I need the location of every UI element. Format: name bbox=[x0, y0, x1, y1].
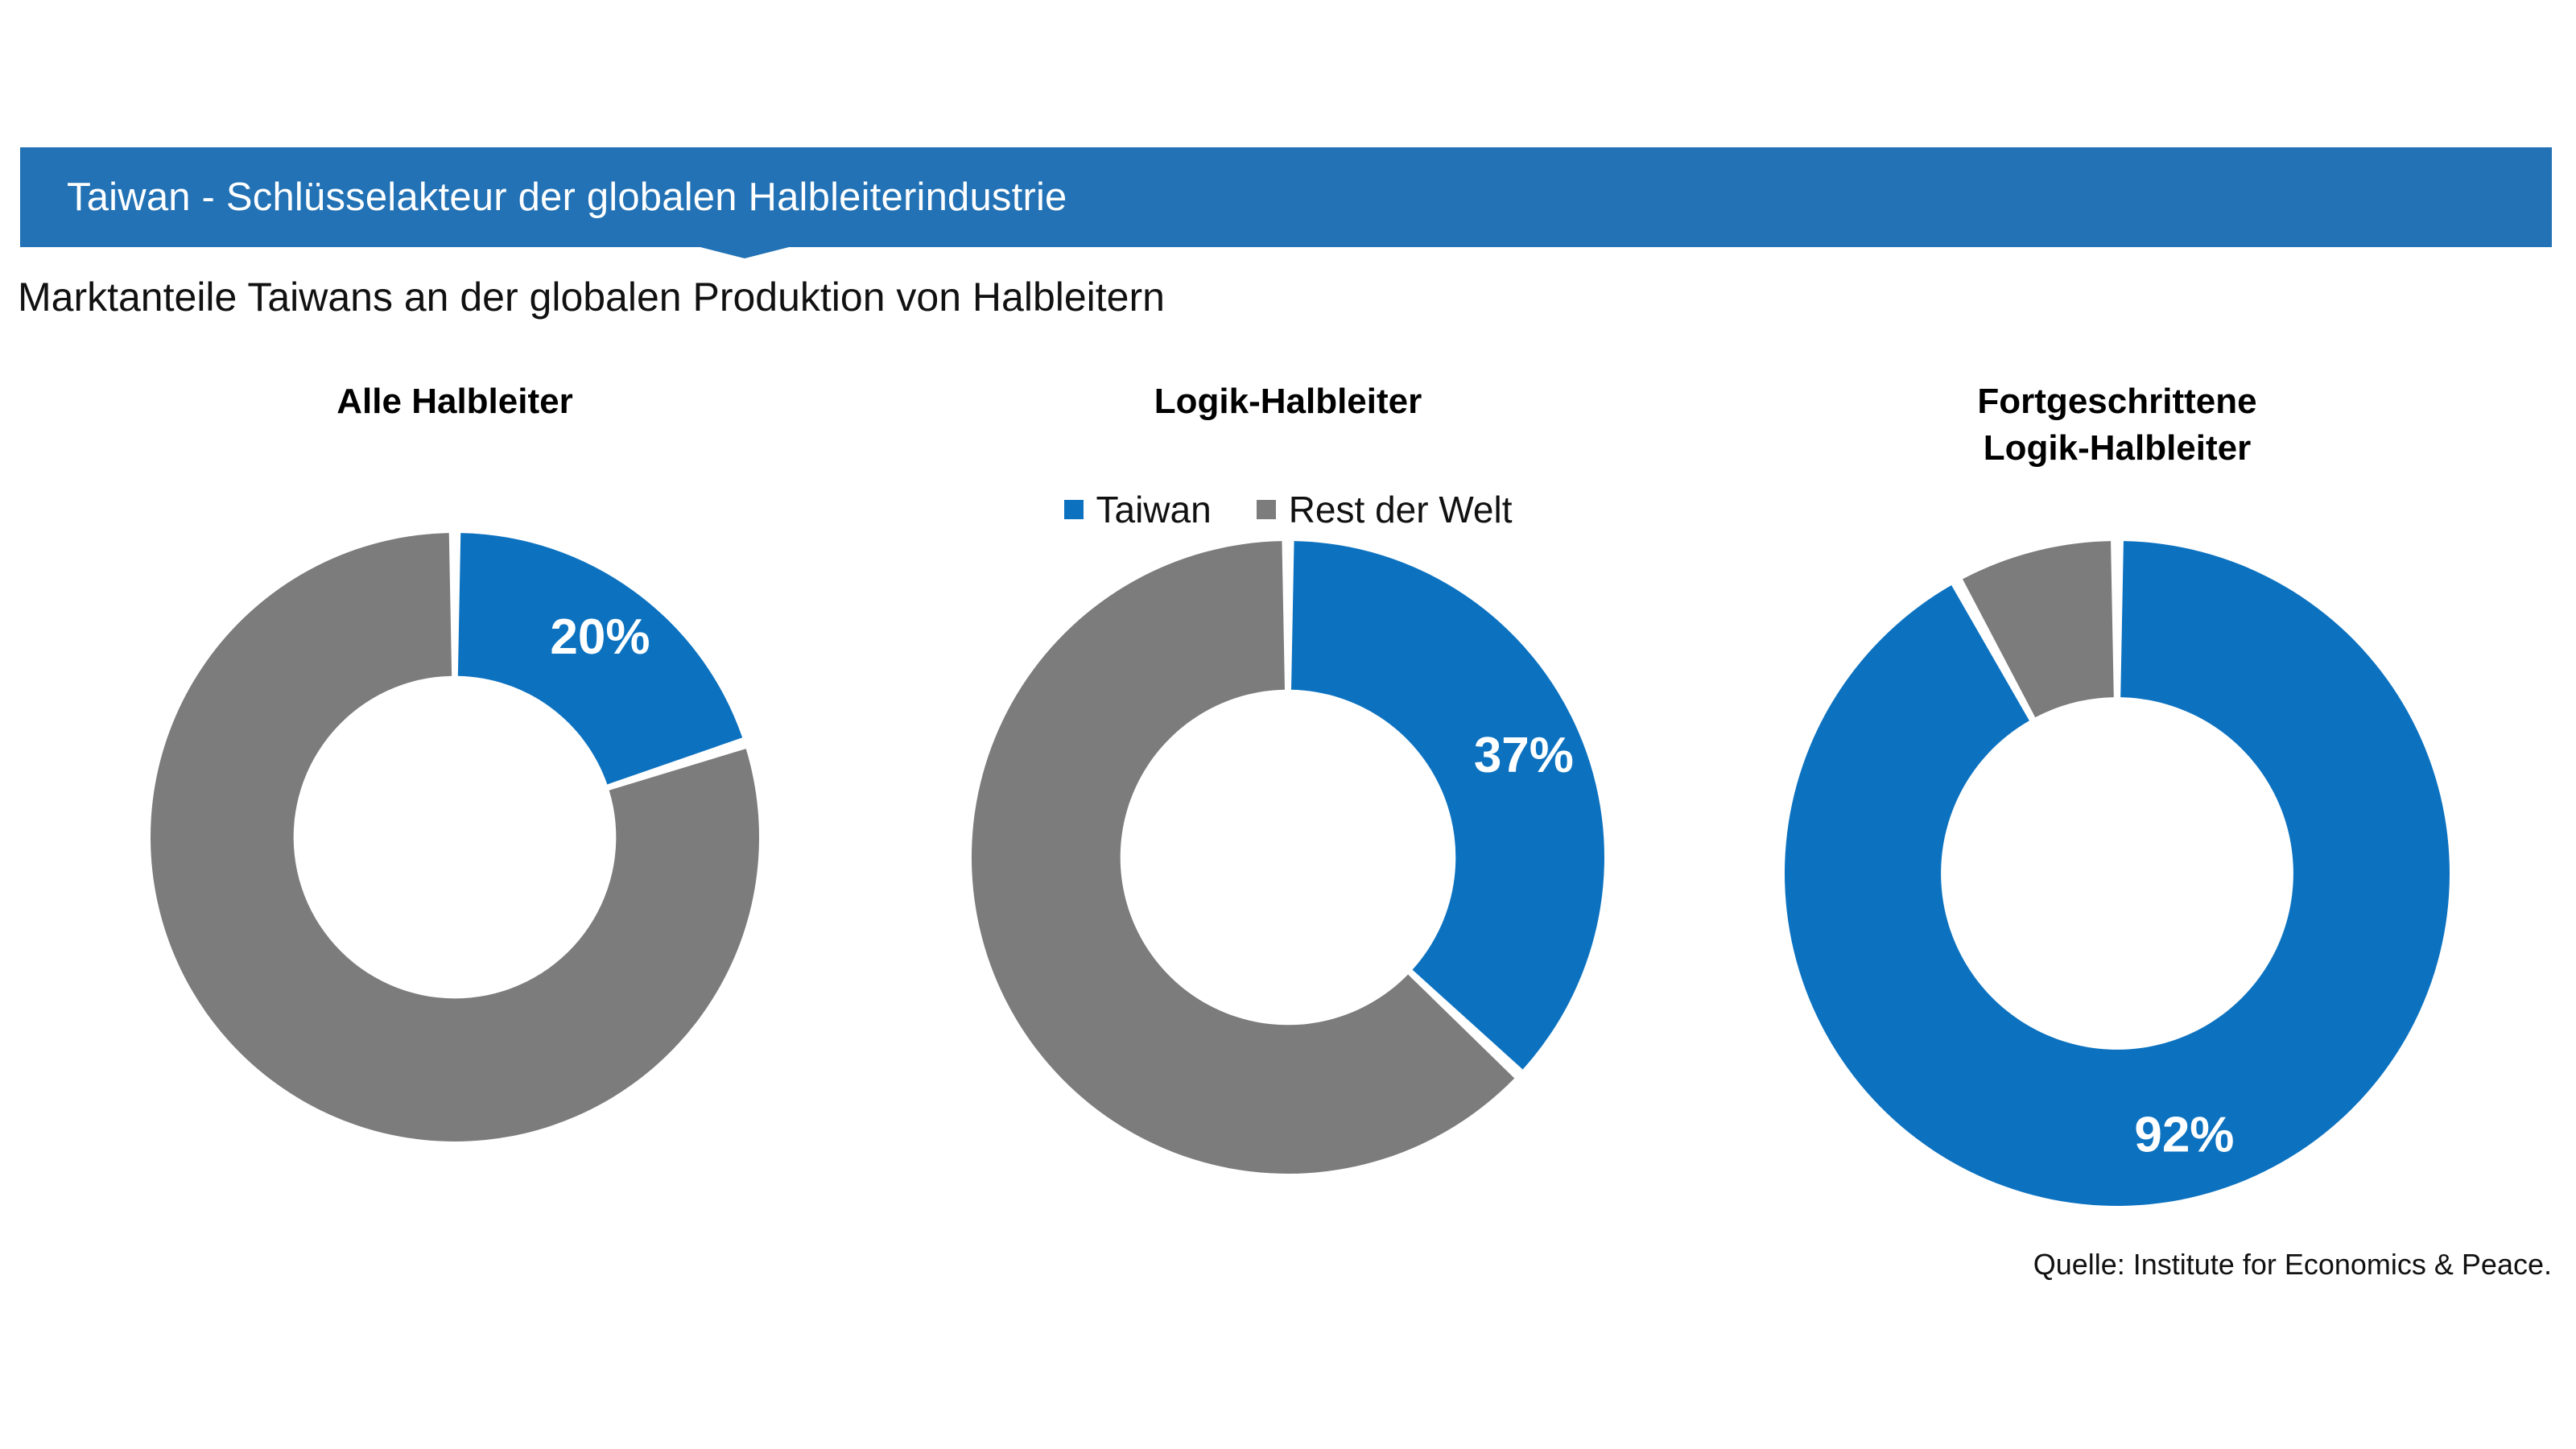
header-band: Taiwan - Schlüsselakteur der globalen Ha… bbox=[20, 147, 2552, 247]
chart-block-fortgeschrittene-logik-halbleiter: Fortgeschrittene Logik-Halbleiter 92% bbox=[1715, 378, 2520, 1256]
donut-wrap-2: 92% bbox=[1783, 539, 2451, 1207]
chart-block-alle-halbleiter: Alle Halbleiter 20% bbox=[52, 378, 857, 1256]
donut-slice-taiwan[interactable] bbox=[1291, 541, 1604, 1069]
source-note: Quelle: Institute for Economics & Peace. bbox=[2033, 1248, 2552, 1282]
chart-title-line: Alle Halbleiter bbox=[52, 378, 857, 425]
chart-title-line: Logik-Halbleiter bbox=[1715, 425, 2520, 472]
legend-item-taiwan[interactable]: Taiwan bbox=[1064, 491, 1212, 528]
chart-title-1: Logik-Halbleiter bbox=[885, 378, 1690, 425]
donut-data-label: 92% bbox=[2134, 1107, 2234, 1162]
donut-data-label: 20% bbox=[550, 609, 650, 665]
chart-title-line: Fortgeschrittene bbox=[1715, 378, 2520, 425]
donut-chart-alle-halbleiter: 20% bbox=[149, 531, 761, 1143]
legend-swatch-taiwan bbox=[1064, 500, 1084, 519]
legend-label-rest-der-welt: Rest der Welt bbox=[1289, 491, 1513, 528]
page-title: Taiwan - Schlüsselakteur der globalen Ha… bbox=[67, 147, 1067, 247]
chart-legend: Taiwan Rest der Welt bbox=[885, 491, 1690, 528]
donut-data-label: 37% bbox=[1474, 728, 1574, 783]
donut-wrap-1: 37% bbox=[970, 539, 1606, 1175]
chart-title-line: Logik-Halbleiter bbox=[885, 378, 1690, 425]
legend-swatch-rest-der-welt bbox=[1257, 500, 1276, 519]
legend-label-taiwan: Taiwan bbox=[1096, 491, 1212, 528]
donut-chart-logik-halbleiter: 37% bbox=[970, 539, 1606, 1175]
header-notch-triangle bbox=[700, 247, 789, 258]
chart-title-2: Fortgeschrittene Logik-Halbleiter bbox=[1715, 378, 2520, 472]
donut-wrap-0: 20% bbox=[149, 531, 761, 1143]
chart-title-0: Alle Halbleiter bbox=[52, 378, 857, 425]
subtitle: Marktanteile Taiwans an der globalen Pro… bbox=[18, 274, 1165, 320]
donut-chart-fortgeschrittene-logik-halbleiter: 92% bbox=[1783, 539, 2451, 1207]
legend-item-rest-der-welt[interactable]: Rest der Welt bbox=[1257, 491, 1513, 528]
donut-slice-taiwan[interactable] bbox=[1785, 541, 2450, 1206]
